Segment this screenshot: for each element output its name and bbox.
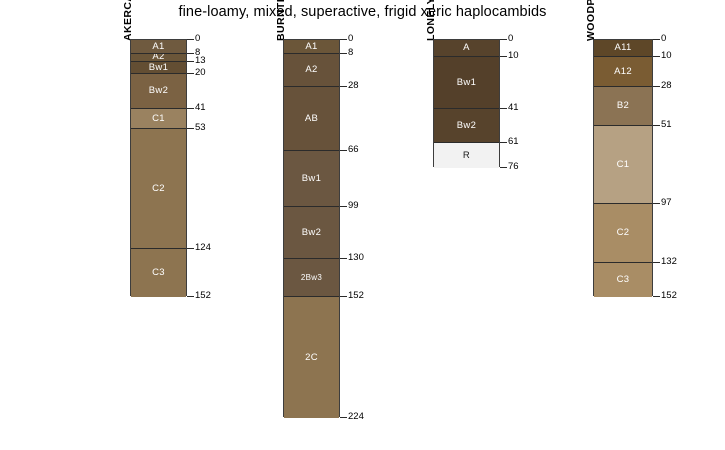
horizon-label: B2: [617, 101, 629, 111]
horizon-woodpass-c1: C1: [594, 126, 652, 204]
depth-label: 28: [661, 81, 672, 91]
depth-tick: [653, 86, 660, 87]
horizon-woodpass-b2: B2: [594, 87, 652, 126]
depth-tick: [653, 56, 660, 57]
horizon-woodpass-a12: A12: [594, 57, 652, 87]
horizon-label: C3: [617, 275, 630, 285]
horizon-woodpass-a11: A11: [594, 40, 652, 57]
horizon-label: C1: [617, 160, 630, 170]
horizon-label: A12: [614, 67, 632, 77]
depth-label: 97: [661, 198, 672, 208]
depth-label: 132: [661, 257, 677, 267]
depth-tick: [653, 39, 660, 40]
profile-column-woodpass: A11A12B2C1C2C3: [593, 39, 653, 296]
horizon-woodpass-c2: C2: [594, 204, 652, 263]
depth-label: 0: [661, 34, 666, 44]
horizon-label: C2: [617, 228, 630, 238]
depth-label: 51: [661, 120, 672, 130]
depth-tick: [653, 262, 660, 263]
profile-name-woodpass: WOODPASS: [585, 0, 597, 41]
depth-tick: [653, 125, 660, 126]
soil-profile-woodpass: WOODPASSA11A12B2C1C2C3010285197132152: [0, 0, 725, 450]
depth-tick: [653, 203, 660, 204]
depth-label: 152: [661, 291, 677, 301]
depth-label: 10: [661, 51, 672, 61]
horizon-woodpass-c3: C3: [594, 263, 652, 297]
soil-profile-plot: fine-loamy, mixed, superactive, frigid x…: [0, 0, 725, 450]
horizon-label: A11: [614, 43, 631, 53]
depth-tick: [653, 296, 660, 297]
